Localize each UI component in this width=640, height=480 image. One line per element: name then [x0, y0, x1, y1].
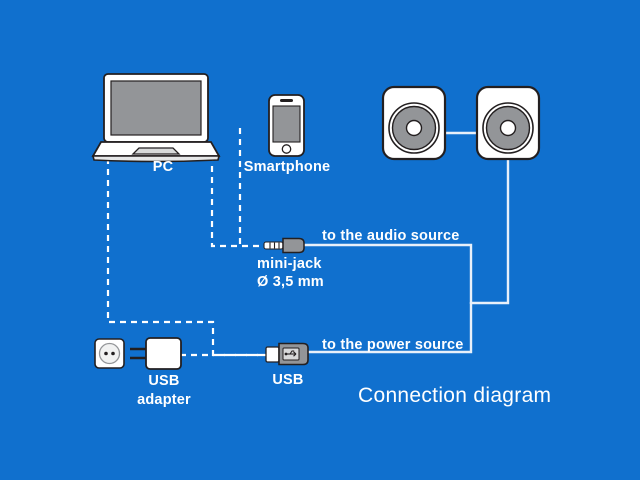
diagram-illustration: [0, 0, 640, 480]
label-minijack-line2: Ø 3,5 mm: [257, 273, 324, 292]
smartphone-home-button: [282, 145, 290, 153]
laptop-device: [93, 74, 219, 162]
cable-right-speaker-down: [470, 158, 508, 303]
smartphone-screen: [273, 106, 300, 142]
cable-audio-run: [303, 245, 471, 304]
speaker-left-device: [383, 87, 445, 159]
label-to-audio-source: to the audio source: [322, 227, 460, 246]
speaker-right-driver-dust-cap: [501, 121, 516, 136]
usb-tip: [266, 347, 279, 362]
usb-connector: [266, 344, 308, 365]
minijack-barrel: [283, 239, 304, 253]
laptop-trackpad: [133, 148, 179, 154]
usb-power-adapter: [130, 338, 181, 369]
label-usb-adapter-line2: adapter: [118, 391, 210, 410]
wall-socket-recess: [100, 344, 120, 364]
speaker-right-device: [477, 87, 539, 159]
speaker-left-driver-dust-cap: [407, 121, 422, 136]
wall-socket-hole-right: [111, 352, 115, 356]
wall-socket-hole-left: [104, 352, 108, 356]
connection-diagram-canvas: PC Smartphone mini-jack Ø 3,5 mm USB ada…: [0, 0, 640, 480]
smartphone-device: [269, 95, 304, 156]
label-usb-adapter-line1: USB: [118, 372, 210, 391]
minijack-connector: [264, 239, 304, 253]
minijack-tip: [264, 242, 283, 249]
smartphone-earpiece: [280, 99, 293, 102]
label-smartphone: Smartphone: [232, 158, 342, 177]
cable-pc-to-usb: [108, 158, 266, 355]
adapter-body: [146, 338, 181, 369]
diagram-title: Connection diagram: [358, 384, 551, 408]
laptop-screen: [111, 81, 201, 135]
label-usb: USB: [243, 371, 333, 390]
label-minijack-line1: mini-jack: [257, 255, 322, 274]
label-to-power-source: to the power source: [322, 336, 464, 355]
wall-socket: [95, 339, 124, 368]
label-pc: PC: [118, 158, 208, 177]
